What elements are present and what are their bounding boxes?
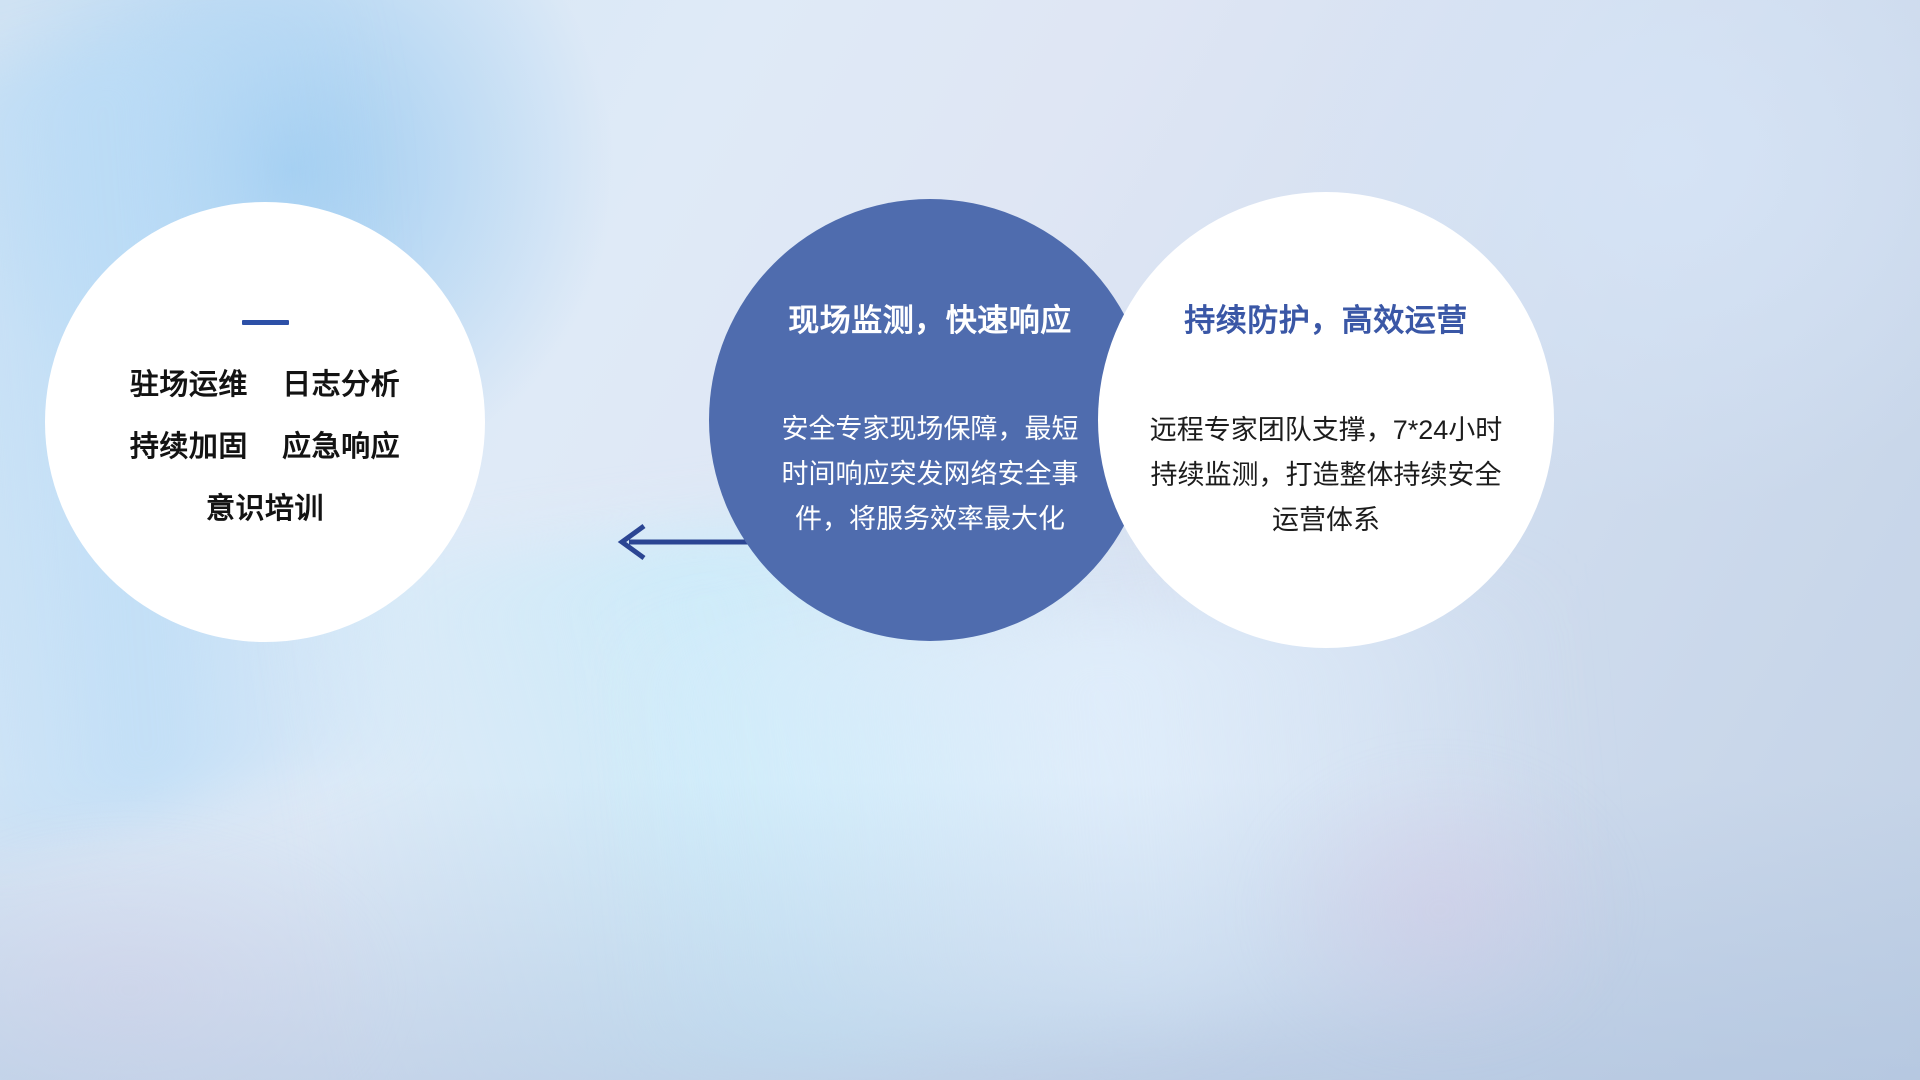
background-bottom-shade	[0, 780, 1920, 1080]
slide-canvas: 驻场运维 日志分析 持续加固 应急响应 意识培训 现场监测，快速响应 安全专家现…	[0, 0, 1920, 1080]
capability-line-2: 持续加固 应急响应	[130, 433, 400, 462]
onsite-monitoring-circle: 现场监测，快速响应 安全专家现场保障，最短时间响应突发网络安全事件，将服务效率最…	[709, 199, 1151, 641]
continuous-heading: 持续防护，高效运营	[1184, 295, 1468, 340]
capability-line-3: 意识培训	[206, 495, 324, 524]
onsite-body-text: 安全专家现场保障，最短时间响应突发网络安全事件，将服务效率最大化	[780, 407, 1080, 542]
continuous-body-text: 远程专家团队支撑，7*24小时持续监测，打造整体持续安全运营体系	[1146, 408, 1506, 543]
onsite-heading: 现场监测，快速响应	[788, 295, 1072, 340]
capability-line-1: 驻场运维 日志分析	[130, 371, 400, 400]
capabilities-circle: 驻场运维 日志分析 持续加固 应急响应 意识培训	[45, 202, 485, 642]
accent-dash-icon	[242, 320, 289, 325]
continuous-protection-circle: 持续防护，高效运营 远程专家团队支撑，7*24小时持续监测，打造整体持续安全运营…	[1108, 202, 1544, 638]
